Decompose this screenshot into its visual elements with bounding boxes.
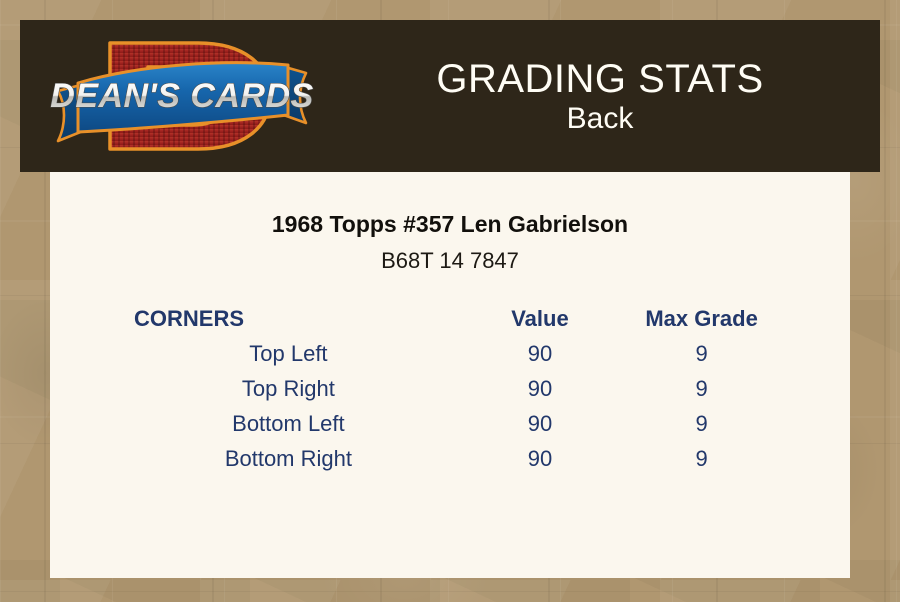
card-title: 1968 Topps #357 Len Gabrielson xyxy=(50,211,850,239)
table-header: CORNERS Value Max Grade xyxy=(120,301,780,336)
row-value: 90 xyxy=(457,406,623,441)
table-row: Top Right 90 9 xyxy=(120,371,780,406)
page-root: DEAN'S CARDS GRADING STATS Back 1968 Top… xyxy=(0,0,900,602)
row-max-grade: 9 xyxy=(623,441,780,476)
header-title-group: GRADING STATS Back xyxy=(320,20,880,172)
row-max-grade: 9 xyxy=(623,406,780,441)
page-subtitle: Back xyxy=(567,102,634,135)
row-value: 90 xyxy=(457,336,623,371)
table-header-row: CORNERS Value Max Grade xyxy=(120,301,780,336)
row-label: Bottom Right xyxy=(120,441,457,476)
row-label: Bottom Left xyxy=(120,406,457,441)
header-bar: DEAN'S CARDS GRADING STATS Back xyxy=(20,20,880,172)
deans-cards-logo[interactable]: DEAN'S CARDS xyxy=(48,25,316,167)
page-title: GRADING STATS xyxy=(436,58,763,100)
column-header-max-grade: Max Grade xyxy=(623,301,780,336)
row-max-grade: 9 xyxy=(623,371,780,406)
column-header-value: Value xyxy=(457,301,623,336)
row-label: Top Left xyxy=(120,336,457,371)
row-max-grade: 9 xyxy=(623,336,780,371)
logo-banner-text: DEAN'S CARDS xyxy=(50,77,313,115)
grading-stats-table: CORNERS Value Max Grade Top Left 90 9 To… xyxy=(120,301,780,476)
table-body: Top Left 90 9 Top Right 90 9 Bottom Left… xyxy=(120,336,780,476)
table-row: Bottom Left 90 9 xyxy=(120,406,780,441)
row-label: Top Right xyxy=(120,371,457,406)
table-row: Top Left 90 9 xyxy=(120,336,780,371)
content-panel: 1968 Topps #357 Len Gabrielson B68T 14 7… xyxy=(50,172,850,578)
column-header-corners: CORNERS xyxy=(120,301,457,336)
card-serial: B68T 14 7847 xyxy=(50,248,850,274)
row-value: 90 xyxy=(457,441,623,476)
table-row: Bottom Right 90 9 xyxy=(120,441,780,476)
row-value: 90 xyxy=(457,371,623,406)
